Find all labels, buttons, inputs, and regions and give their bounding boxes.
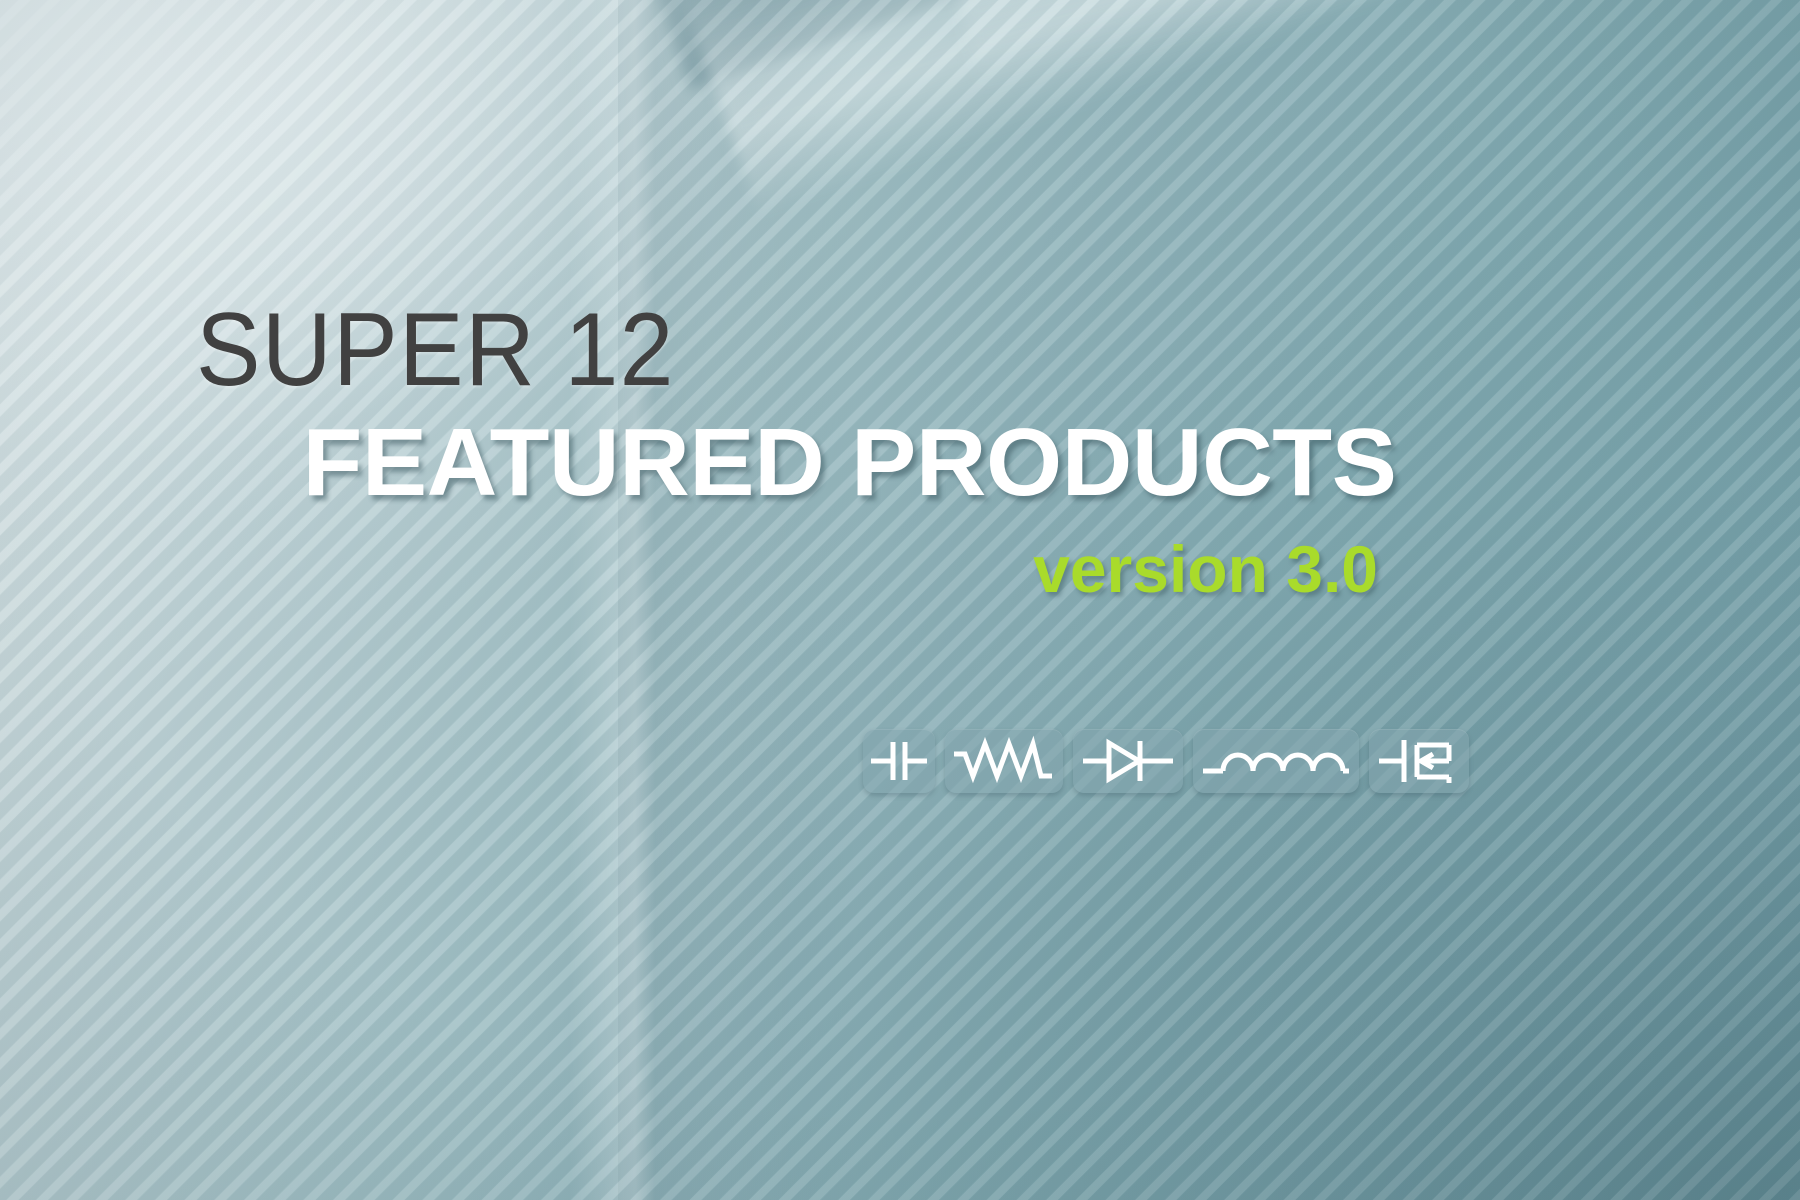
diode-icon: [1073, 729, 1183, 793]
slide-content: SUPER 12 FEATURED PRODUCTS version 3.0: [0, 0, 1800, 1200]
slide-headline: FEATURED PRODUCTS: [302, 415, 1396, 511]
inductor-icon: [1193, 729, 1359, 793]
resistor-icon: [945, 729, 1063, 793]
slide-version-label: version 3.0: [1033, 536, 1378, 602]
slide-kicker: SUPER 12: [196, 300, 675, 402]
transistor-icon: [1369, 729, 1469, 793]
capacitor-icon: [863, 729, 935, 793]
component-icon-row: [863, 729, 1469, 793]
title-slide: SUPER 12 FEATURED PRODUCTS version 3.0: [0, 0, 1800, 1200]
